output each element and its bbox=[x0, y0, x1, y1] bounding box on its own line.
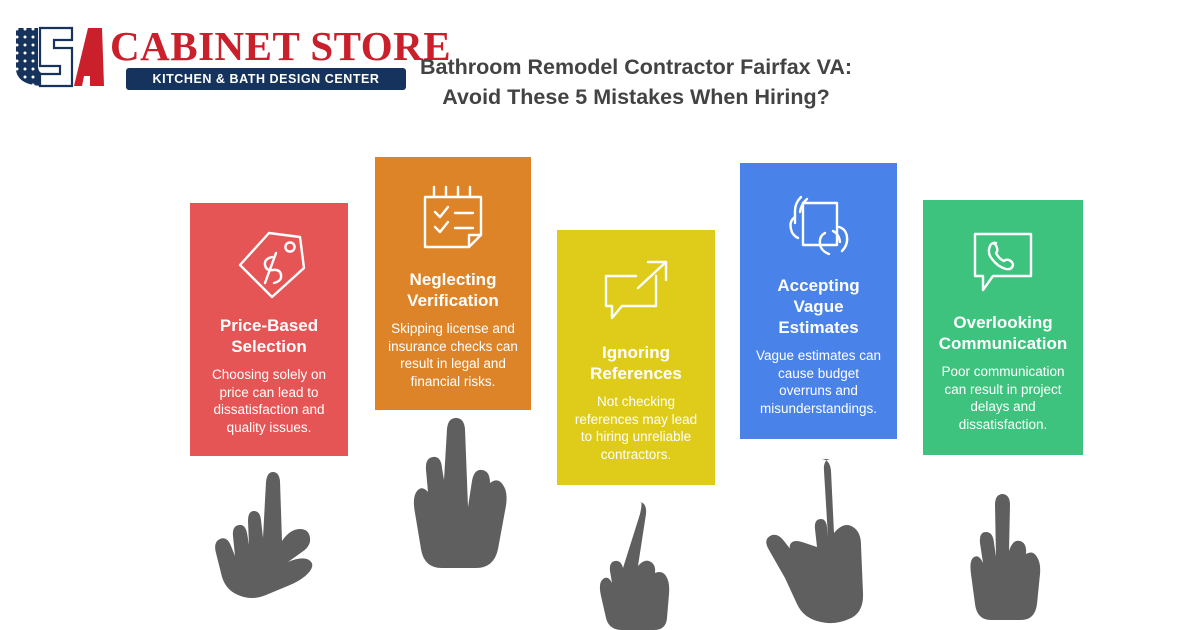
mistake-card-5-title: Overlooking Communication bbox=[935, 312, 1071, 354]
checklist-notepad-icon bbox=[415, 181, 491, 257]
mistake-card-3-description: Not checking references may lead to hiri… bbox=[569, 393, 703, 463]
mistake-card-5[interactable]: Overlooking Communication Poor communica… bbox=[923, 200, 1083, 455]
speech-bubble-external-link-icon bbox=[598, 254, 674, 330]
pointing-hand-icon-3 bbox=[594, 498, 690, 630]
mistake-card-1-title: Price-Based Selection bbox=[202, 315, 336, 357]
brand-logo: CABINET STORE KITCHEN & BATH DESIGN CENT… bbox=[14, 24, 406, 96]
page-title-line-1: Bathroom Remodel Contractor Fairfax VA: bbox=[420, 55, 852, 79]
price-tag-icon bbox=[231, 227, 307, 303]
header: CABINET STORE KITCHEN & BATH DESIGN CENT… bbox=[0, 0, 1200, 130]
mistake-card-2-description: Skipping license and insurance checks ca… bbox=[387, 320, 519, 390]
brand-tagline: KITCHEN & BATH DESIGN CENTER bbox=[126, 68, 406, 90]
mistake-card-4-description: Vague estimates can cause budget overrun… bbox=[752, 347, 885, 417]
pointing-hand-icon-4 bbox=[765, 455, 883, 630]
mistake-card-1-description: Choosing solely on price can lead to dis… bbox=[202, 366, 336, 436]
usa-flag-emblem-icon bbox=[14, 26, 106, 88]
pointing-hand-icon-2 bbox=[404, 412, 520, 588]
hands-holding-document-icon bbox=[781, 187, 857, 263]
page-title: Bathroom Remodel Contractor Fairfax VA: … bbox=[406, 52, 866, 112]
mistake-card-5-description: Poor communication can result in project… bbox=[935, 363, 1071, 433]
mistake-card-2[interactable]: Neglecting Verification Skipping license… bbox=[375, 157, 531, 410]
brand-tagline-bar: KITCHEN & BATH DESIGN CENTER bbox=[126, 68, 406, 90]
mistake-card-4[interactable]: Accepting Vague Estimates Vague estimate… bbox=[740, 163, 897, 439]
mistake-card-4-title: Accepting Vague Estimates bbox=[752, 275, 885, 338]
mistake-card-3[interactable]: Ignoring References Not checking referen… bbox=[557, 230, 715, 485]
pointing-hand-icon-5 bbox=[957, 492, 1053, 630]
mistake-card-3-title: Ignoring References bbox=[569, 342, 703, 384]
mistake-card-1[interactable]: Price-Based Selection Choosing solely on… bbox=[190, 203, 348, 456]
infographic-page: CABINET STORE KITCHEN & BATH DESIGN CENT… bbox=[0, 0, 1200, 630]
pointing-hand-icon-1 bbox=[205, 468, 333, 630]
phone-speech-bubble-icon bbox=[965, 224, 1041, 300]
brand-name: CABINET STORE bbox=[110, 22, 410, 70]
mistake-card-2-title: Neglecting Verification bbox=[387, 269, 519, 311]
page-title-line-2: Avoid These 5 Mistakes When Hiring? bbox=[406, 82, 866, 112]
